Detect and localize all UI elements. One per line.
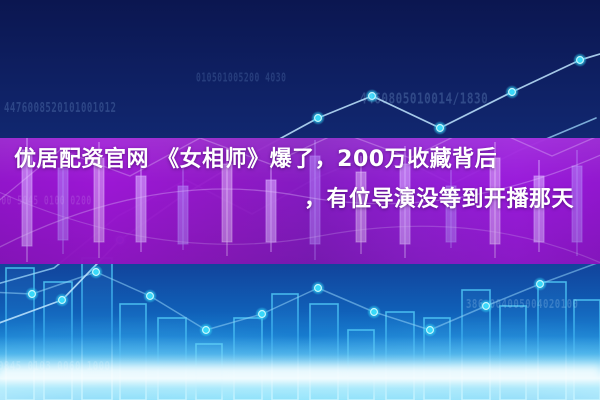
candlesticks	[22, 138, 582, 262]
purple-band-lines	[0, 138, 600, 264]
chart-bars	[6, 258, 600, 400]
candlestick-graphic	[0, 138, 600, 264]
article-banner: 4476008520101001012 010501005200 4030 44…	[0, 0, 600, 400]
purple-overlay-band: 000 5045 0100 0200	[0, 138, 600, 264]
